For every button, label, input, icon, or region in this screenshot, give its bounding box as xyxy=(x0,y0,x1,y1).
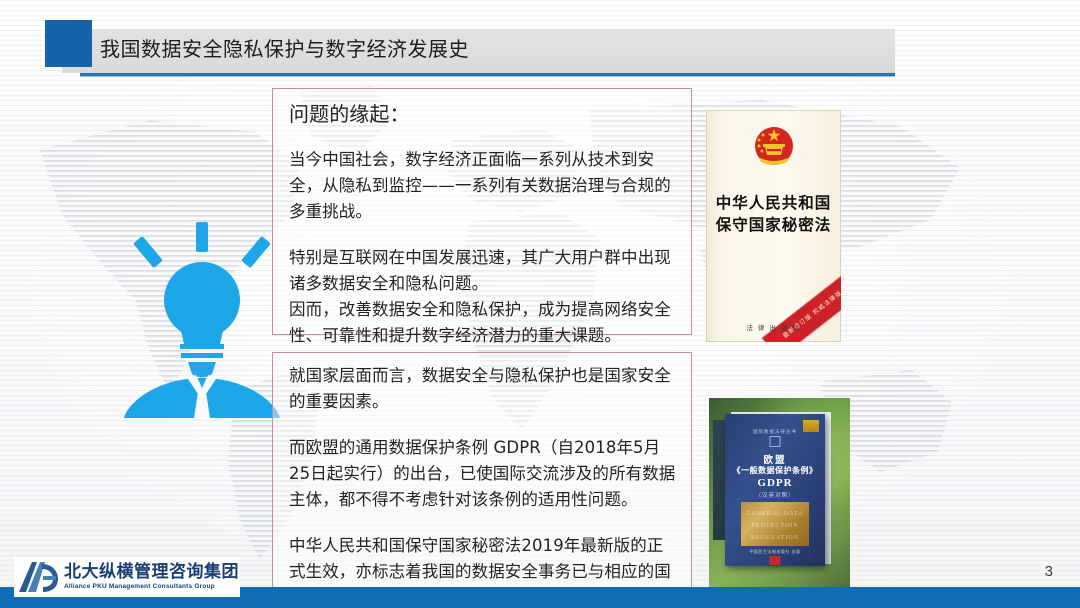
box1-paragraph-2: 特别是互联网在中国发展迅速，其广大用户群中出现诸多数据安全和隐私问题。 xyxy=(289,245,677,297)
book2-emblem-icon xyxy=(770,436,781,447)
page-number: 3 xyxy=(1045,563,1053,580)
china-state-secrets-law-book-image: 中华人民共和国 保守国家秘密法 最新修订版 权威法律版 法 律 出 版 社 xyxy=(706,110,841,342)
box1-paragraph-1: 当今中国社会，数字经济正面临一系列从技术到安全，从隐私到监控——一系列有关数据治… xyxy=(289,147,677,225)
book1-title-line2: 保守国家秘密法 xyxy=(706,214,841,236)
book2-publisher: 中国民主法制出版社 出版 xyxy=(725,549,825,555)
box1-heading: 问题的缘起： xyxy=(289,99,677,129)
china-national-emblem-icon xyxy=(748,124,800,174)
pku-alliance-logo-icon xyxy=(16,560,60,594)
header-underline-light xyxy=(80,76,895,77)
problem-origin-textbox: 问题的缘起： 当今中国社会，数字经济正面临一系列从技术到安全，从隐私到监控——一… xyxy=(272,88,692,335)
lightbulb-head-person-icon xyxy=(118,222,286,418)
page-title: 我国数据安全隐私保护与数字经济发展史 xyxy=(100,33,469,62)
book1-title-line1: 中华人民共和国 xyxy=(706,192,841,214)
company-logo-text: 北大纵横管理咨询集团 Alliance PKU Management Consu… xyxy=(64,563,239,591)
company-name-cn: 北大纵横管理咨询集团 xyxy=(64,563,239,581)
eu-gdpr-book-image: 国际数据法律丛书 欧盟 《一般数据保护条例》 GDPR （汉英对照） GENER… xyxy=(709,398,850,588)
book2-front-cover: 国际数据法律丛书 欧盟 《一般数据保护条例》 GDPR （汉英对照） GENER… xyxy=(725,414,825,566)
book2-series-label: 国际数据法律丛书 xyxy=(725,429,825,435)
book2-title-line1: 欧盟 xyxy=(725,452,825,466)
book1-publisher: 法 律 出 版 社 xyxy=(706,322,841,332)
box1-paragraph-3: 因而，改善数据安全和隐私保护，成为提高网络安全性、可靠性和提升数字经济潜力的重大… xyxy=(289,297,677,349)
slide-canvas: 我国数据安全隐私保护与数字经济发展史 问题的缘起： 当今中国社会，数字经济正面临… xyxy=(0,0,1080,608)
book1-cover: 中华人民共和国 保守国家秘密法 最新修订版 权威法律版 法 律 出 版 社 xyxy=(706,110,841,342)
company-logo: 北大纵横管理咨询集团 Alliance PKU Management Consu… xyxy=(14,557,240,597)
box2-paragraph-1: 就国家层面而言，数据安全与隐私保护也是国家安全的重要因素。 xyxy=(289,363,677,415)
book2-title-line2: 《一般数据保护条例》 xyxy=(725,465,825,476)
book2-title-line3: GDPR xyxy=(725,477,825,489)
book2-gold-panel: GENERAL DATA PROTECTION REGULATION xyxy=(741,502,809,546)
book1-title: 中华人民共和国 保守国家秘密法 xyxy=(706,192,841,236)
book2-panel-text: GENERAL DATA PROTECTION REGULATION xyxy=(741,502,809,544)
book2-title-line4: （汉英对照） xyxy=(725,491,825,499)
book2-publisher-logo-icon xyxy=(770,556,781,565)
box2-paragraph-2: 而欧盟的通用数据保护条例 GDPR（自2018年5月25日起实行）的出台，已使国… xyxy=(289,435,677,513)
blue-square-accent-icon xyxy=(45,20,92,67)
national-security-textbox: 就国家层面而言，数据安全与隐私保护也是国家安全的重要因素。 而欧盟的通用数据保护… xyxy=(272,352,692,589)
company-name-en: Alliance PKU Management Consultants Grou… xyxy=(64,582,239,591)
